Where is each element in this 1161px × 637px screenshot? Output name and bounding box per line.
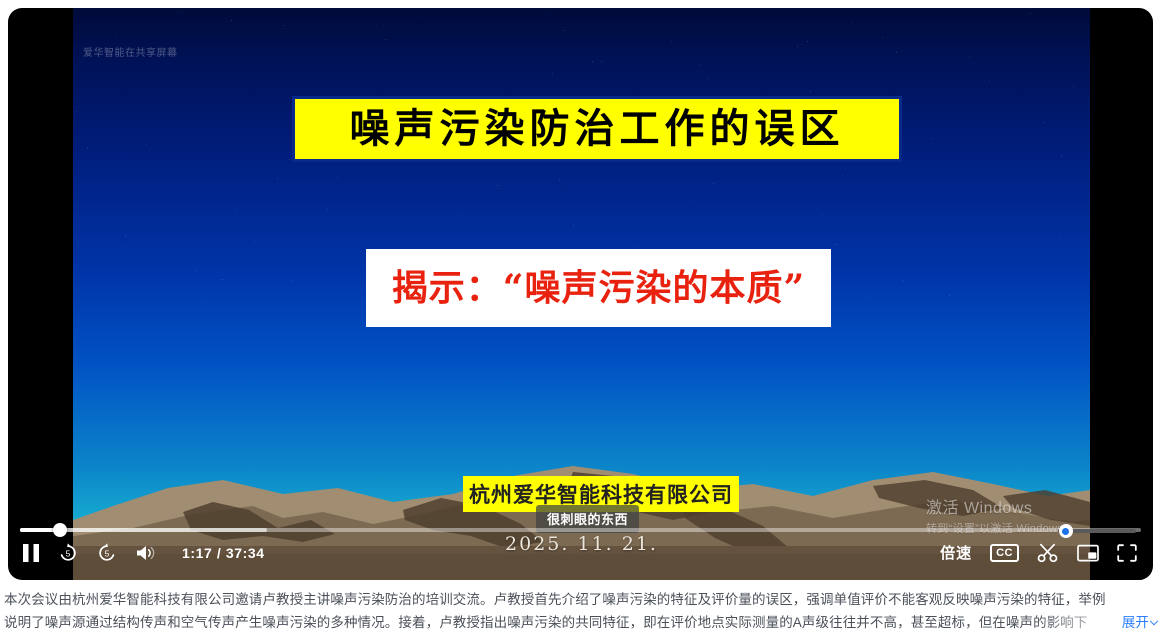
expand-label: 展开: [1122, 615, 1149, 630]
fullscreen-button[interactable]: [1117, 544, 1137, 562]
company-name: 杭州爱华智能科技有限公司: [469, 484, 733, 505]
controls-right-group[interactable]: 倍速 CC: [940, 542, 1137, 563]
volume-slider[interactable]: [1058, 526, 1136, 536]
playback-speed-button[interactable]: 倍速: [940, 542, 972, 563]
svg-text:5: 5: [66, 549, 71, 559]
controls-left-group[interactable]: 5 5 1:17 / 37:34: [22, 542, 265, 564]
rewind-5-button[interactable]: 5: [57, 542, 79, 564]
clip-button[interactable]: [1037, 543, 1059, 563]
slide-subtitle: 揭示：“噪声污染的本质”: [392, 270, 805, 306]
video-description: 本次会议由杭州爱华智能科技有限公司邀请卢教授主讲噪声污染防治的培训交流。卢教授首…: [4, 588, 1157, 634]
player-controls-bar[interactable]: 5 5 1:17 / 37:34 倍速: [8, 520, 1153, 580]
forward-5-button[interactable]: 5: [96, 542, 118, 564]
progress-bar[interactable]: [20, 523, 1141, 537]
screen-share-watermark: 爱华智能在共享屏幕: [83, 44, 178, 59]
pause-button[interactable]: [22, 543, 40, 563]
chevron-down-icon: [1150, 617, 1158, 625]
slide-title-box: 噪声污染防治工作的误区: [292, 96, 902, 162]
volume-button[interactable]: [135, 544, 157, 562]
video-player[interactable]: 噪声污染防治工作的误区 揭示：“噪声污染的本质” 杭州爱华智能科技有限公司 很刺…: [8, 8, 1153, 580]
description-line-2: 说明了噪声源通过结构传声和空气传声产生噪声污染的多种情况。接着，卢教授指出噪声污…: [4, 611, 1112, 634]
video-surface[interactable]: 噪声污染防治工作的误区 揭示：“噪声污染的本质” 杭州爱华智能科技有限公司 很刺…: [73, 8, 1090, 580]
slide-subtitle-box: 揭示：“噪声污染的本质”: [366, 249, 831, 327]
progress-handle[interactable]: [53, 523, 67, 537]
svg-text:5: 5: [105, 549, 110, 559]
description-line-1: 本次会议由杭州爱华智能科技有限公司邀请卢教授主讲噪声污染防治的培训交流。卢教授首…: [4, 588, 1157, 611]
volume-handle[interactable]: [1059, 524, 1073, 538]
picture-in-picture-button[interactable]: [1077, 544, 1099, 562]
captions-button[interactable]: CC: [990, 544, 1019, 562]
time-display: 1:17 / 37:34: [182, 545, 265, 561]
expand-description-button[interactable]: 展开: [1122, 611, 1157, 634]
page-title: 噪声污染防治工作的误区: [350, 109, 845, 149]
